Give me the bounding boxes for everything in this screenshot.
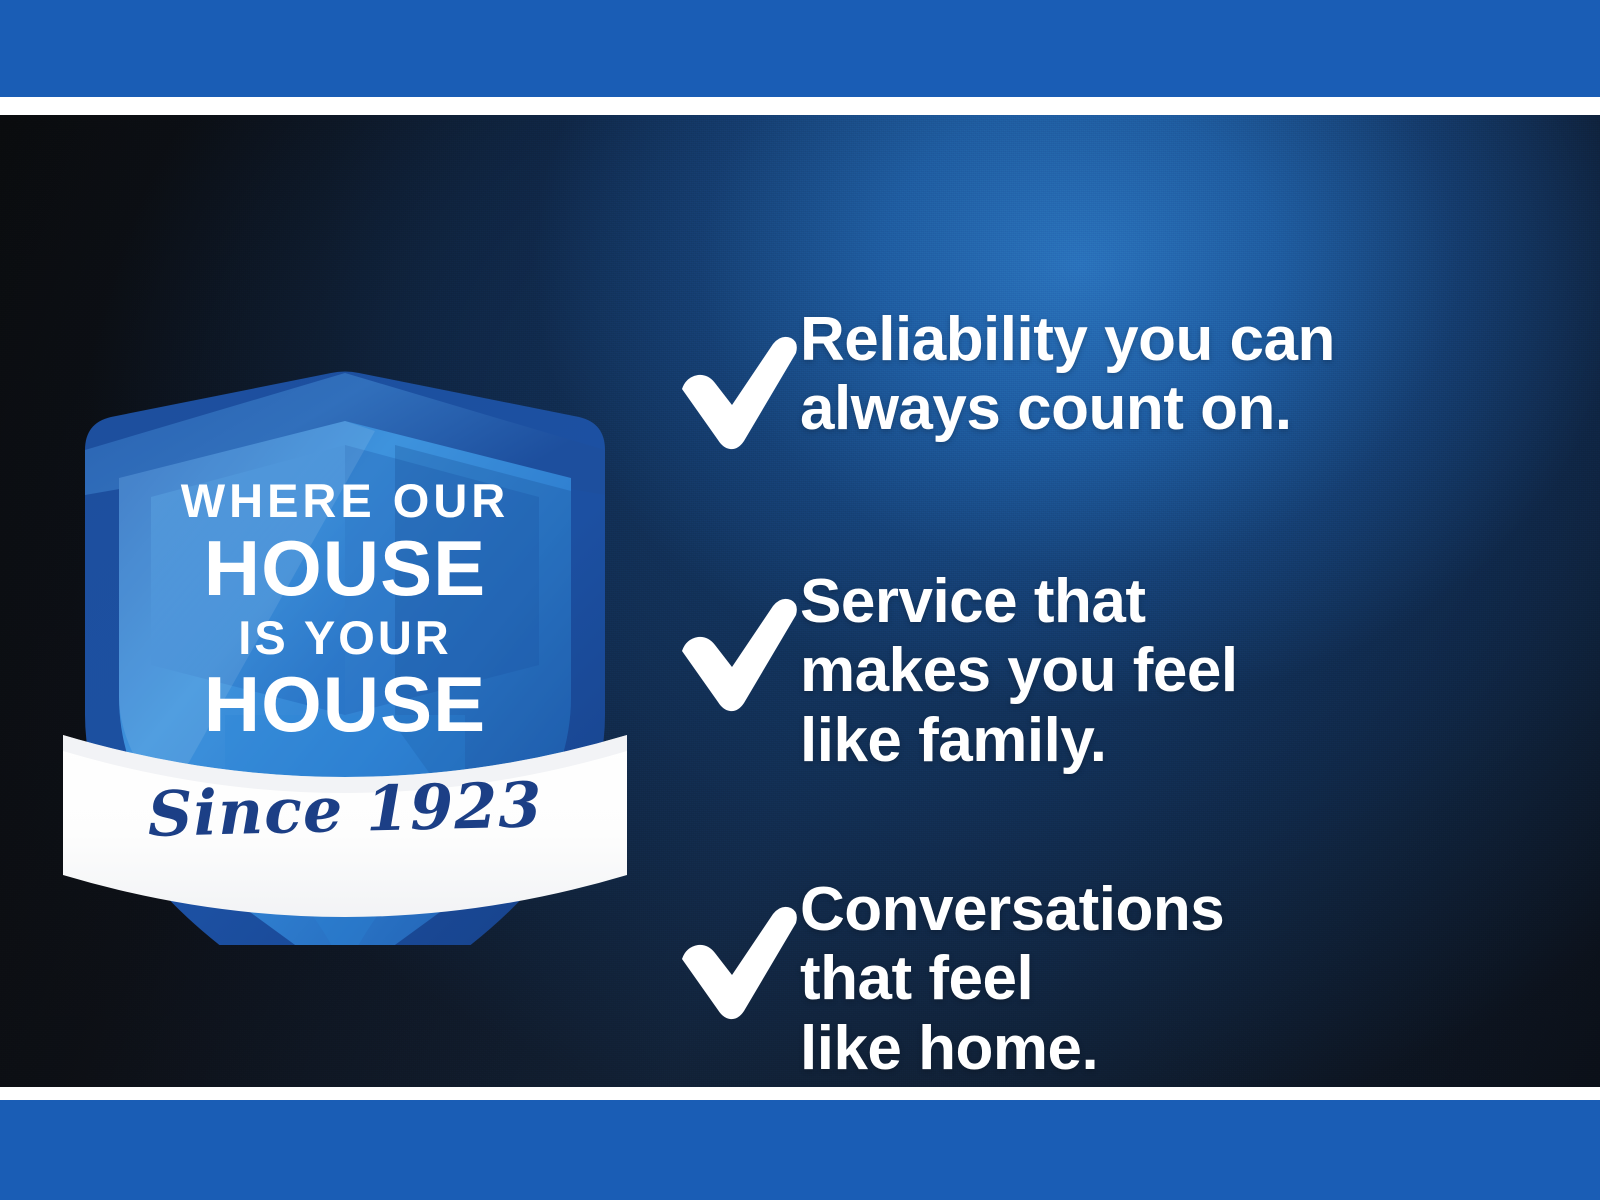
benefit-text: Reliability you can always count on. [800, 305, 1335, 444]
shield-emblem: Where Our House Is Your House Since 1923 [55, 245, 635, 945]
bottom-brand-bar [0, 1100, 1600, 1200]
checkmark-icon [672, 333, 800, 451]
main-stage: Where Our House Is Your House Since 1923… [0, 115, 1600, 1087]
benefit-item: Service that makes you feel like family. [672, 567, 1238, 775]
top-brand-bar [0, 0, 1600, 97]
promo-poster: Where Our House Is Your House Since 1923… [0, 0, 1600, 1200]
benefit-item: Conversations that feel like home. [672, 875, 1224, 1083]
checkmark-icon [672, 595, 800, 713]
benefit-text: Service that makes you feel like family. [800, 567, 1238, 775]
bottom-white-divider [0, 1087, 1600, 1100]
top-white-divider [0, 97, 1600, 115]
benefit-item: Reliability you can always count on. [672, 305, 1335, 451]
checkmark-icon [672, 903, 800, 1021]
benefit-text: Conversations that feel like home. [800, 875, 1224, 1083]
